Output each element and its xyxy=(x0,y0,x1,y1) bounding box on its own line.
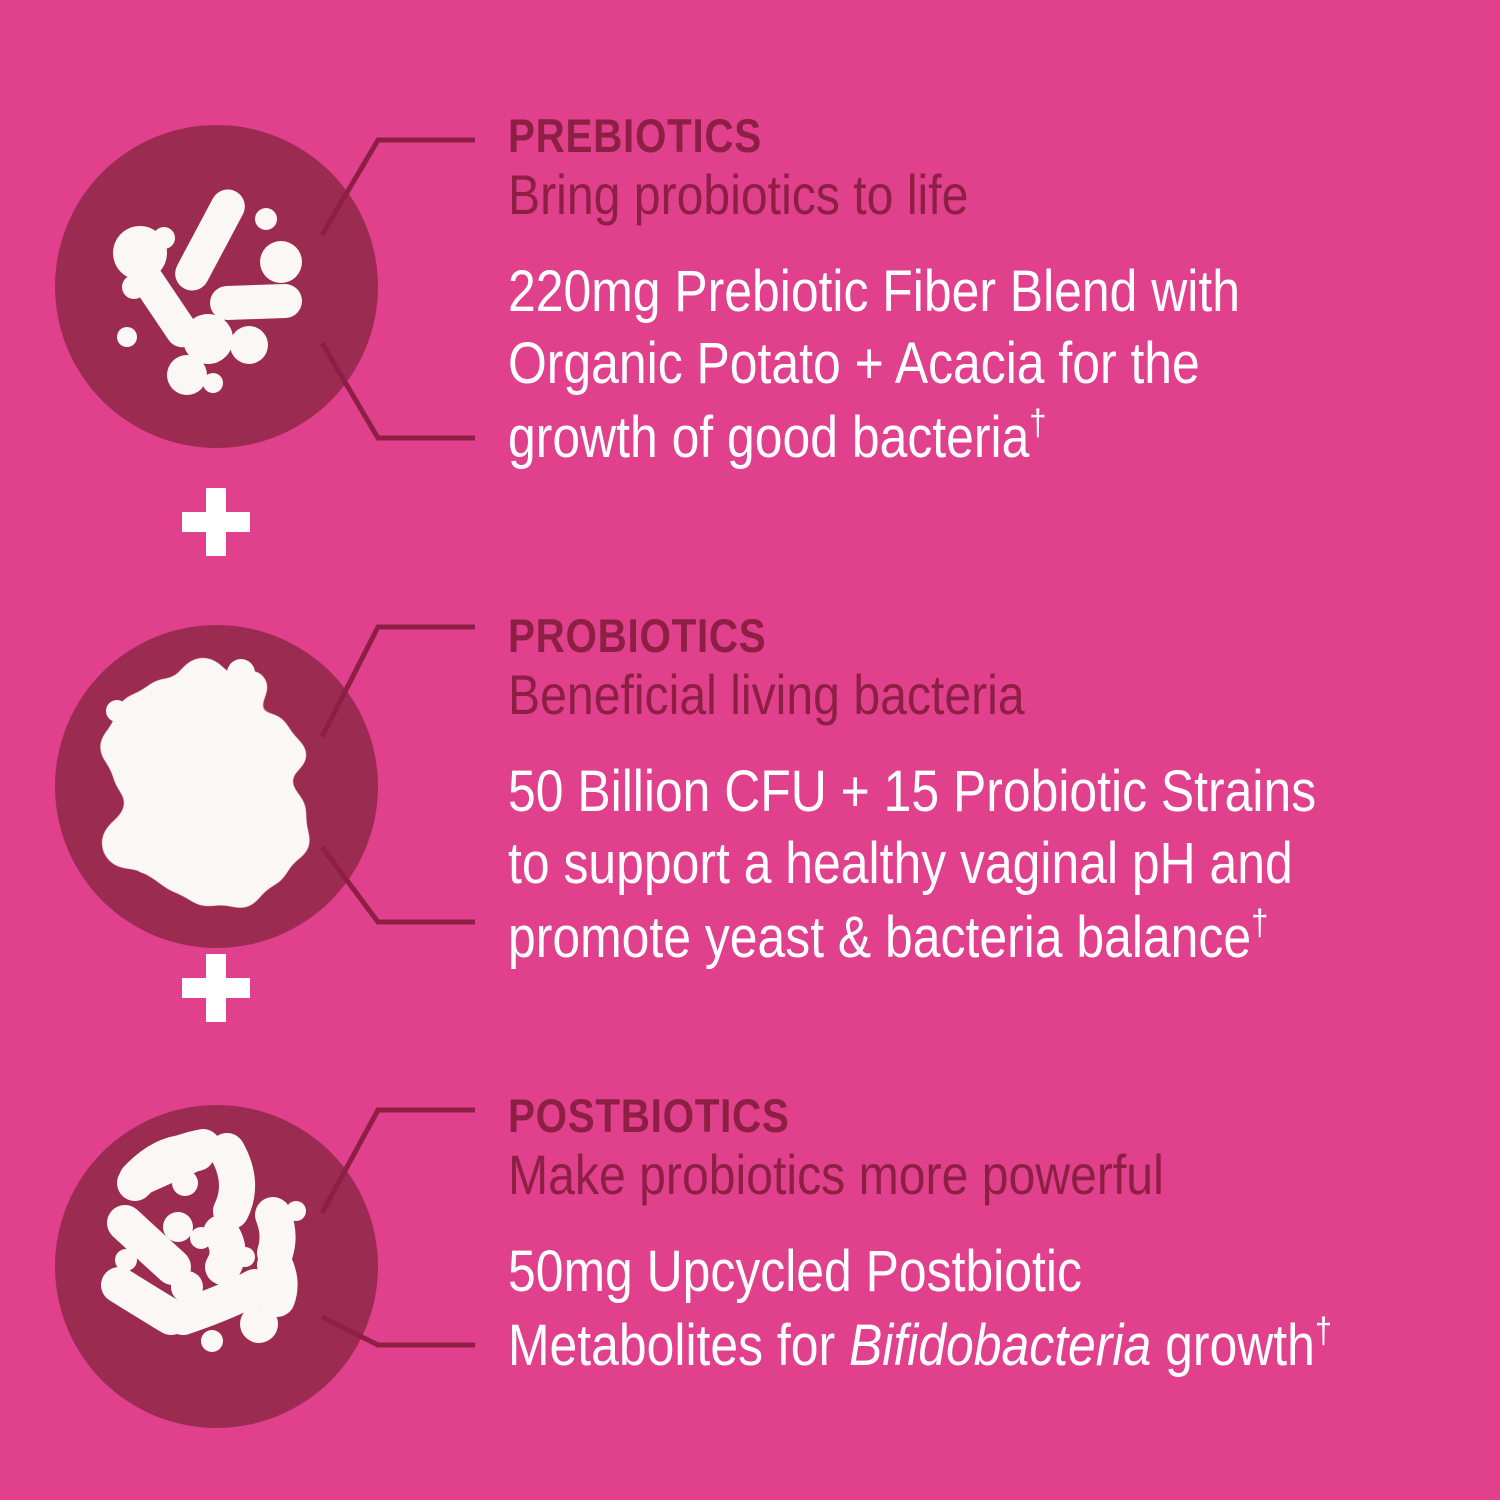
body-line-3-pre: promote yeast & bacteria balance xyxy=(508,905,1251,970)
section-body: 50 Billion CFU + 15 Probiotic Strains to… xyxy=(508,756,1334,973)
body-line-2: Organic Potato + Acacia for the xyxy=(508,331,1200,396)
section-body: 50mg Upcycled Postbiotic Metabolites for… xyxy=(508,1236,1334,1381)
plus-vertical-bar xyxy=(206,954,226,1022)
body-line-2: to support a healthy vaginal pH and xyxy=(508,831,1293,896)
postbiotics-curved-bacilli-icon xyxy=(55,1105,378,1428)
body-line-3-pre: Metabolites for xyxy=(508,1313,849,1378)
dagger-symbol: † xyxy=(1029,401,1046,442)
dagger-symbol: † xyxy=(1315,1309,1332,1350)
section-subhead: Beneficial living bacteria xyxy=(508,664,1334,727)
body-line-1: 220mg Prebiotic Fiber Blend with xyxy=(508,259,1240,324)
body-line-3-post: growth xyxy=(1151,1313,1315,1378)
plus-separator-1 xyxy=(182,488,250,556)
probiotics-blob-colony-icon xyxy=(55,625,378,948)
body-line-3-italic: Bifidobacteria xyxy=(849,1313,1151,1378)
body-line-3: Metabolites for Bifidobacteria growth† xyxy=(508,1313,1332,1378)
text-column-prebiotics: PREBIOTICS Bring probiotics to life 220m… xyxy=(508,111,1468,473)
body-line-3-pre: growth of good bacteria xyxy=(508,405,1029,470)
body-line-1: 50 Billion CFU + 15 Probiotic Strains xyxy=(508,759,1316,824)
plus-vertical-bar xyxy=(206,488,226,556)
section-subhead: Make probiotics more powerful xyxy=(508,1144,1334,1207)
section-subhead: Bring probiotics to life xyxy=(508,164,1334,227)
text-column-postbiotics: POSTBIOTICS Make probiotics more powerfu… xyxy=(508,1091,1468,1382)
plus-separator-2 xyxy=(182,954,250,1022)
probiotic-benefits-infographic: PREBIOTICS Bring probiotics to life 220m… xyxy=(0,0,1500,1500)
text-column-probiotics: PROBIOTICS Beneficial living bacteria 50… xyxy=(508,611,1468,973)
section-body: 220mg Prebiotic Fiber Blend with Organic… xyxy=(508,256,1334,473)
prebiotics-rod-bacteria-icon xyxy=(55,125,378,448)
body-line-3: growth of good bacteria† xyxy=(508,405,1047,470)
dagger-symbol: † xyxy=(1251,901,1268,942)
section-eyebrow: PREBIOTICS xyxy=(508,111,1334,162)
body-line-1: 50mg Upcycled Postbiotic xyxy=(508,1239,1082,1304)
section-eyebrow: PROBIOTICS xyxy=(508,611,1334,662)
section-eyebrow: POSTBIOTICS xyxy=(508,1091,1334,1142)
body-line-3: promote yeast & bacteria balance† xyxy=(508,905,1268,970)
